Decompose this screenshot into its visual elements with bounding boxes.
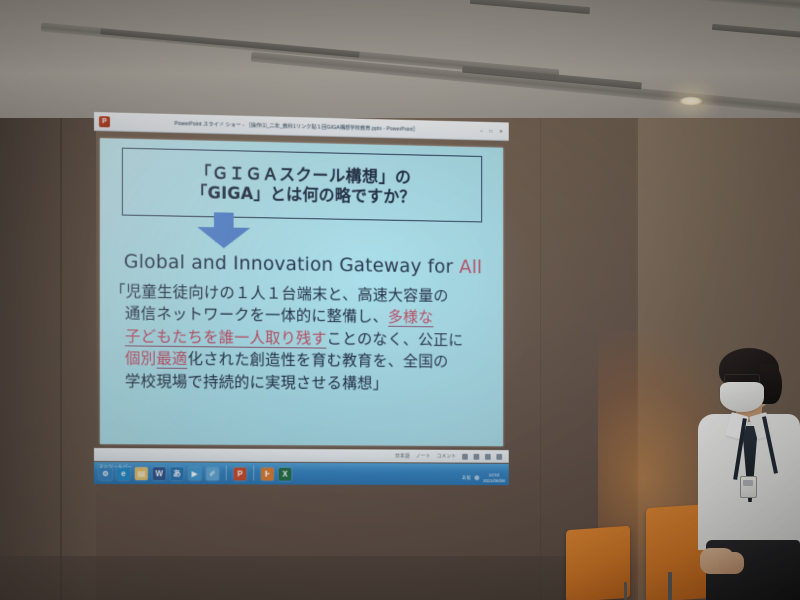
orange-chair	[566, 526, 630, 600]
view-button-icon[interactable]	[496, 453, 502, 459]
floor	[0, 556, 600, 600]
view-button-icon[interactable]	[462, 453, 468, 459]
taskbar-separator	[253, 466, 254, 481]
slide-body-segment: 多様な	[388, 308, 434, 327]
slide-body-segment: 最適	[156, 350, 187, 369]
wall-pillar	[0, 118, 96, 600]
taskbar-label: ミニツールバー	[99, 464, 132, 470]
status-item[interactable]: ノート	[416, 453, 431, 460]
question-line-2: 「GIGA」とは何の略ですか？	[191, 184, 415, 207]
wall-seam	[60, 118, 62, 600]
slide-canvas: 「ＧＩＧＡスクール構想」の 「GIGA」とは何の略ですか？ Global and…	[100, 138, 503, 446]
slide-body-segment: ことのなく	[327, 330, 403, 349]
down-arrow-icon	[197, 212, 250, 249]
english-answer-prefix: Global and Innovation Gateway for	[124, 251, 459, 278]
status-item[interactable]: コメント	[436, 453, 456, 460]
taskbar-separator	[226, 466, 227, 481]
powerpoint-icon[interactable]: P	[234, 468, 247, 481]
projected-screen: P PowerPoint スライド ショー - ［操作⑴_二年_教科1リンク貼１…	[94, 112, 509, 485]
wall-seam	[540, 118, 541, 600]
recessed-downlight-icon	[678, 96, 704, 106]
media-player-icon[interactable]: ▶	[188, 467, 201, 480]
windows-taskbar: ミニツールバー ⊚e▤Wあ▶✐PͰX あ般 14:52 2021/06/08	[94, 462, 509, 485]
photo-scene: P PowerPoint スライド ショー - ［操作⑴_二年_教科1リンク貼１…	[0, 0, 800, 600]
id-badge	[740, 476, 757, 498]
powerpoint-icon: P	[99, 116, 110, 127]
slide-body-segment: 学校現場で持続的に実現させる構想」	[125, 372, 388, 392]
hand	[718, 552, 744, 574]
status-item: 日本語	[395, 452, 410, 459]
slide-body-segment: 、公正に	[403, 331, 464, 349]
window-controls[interactable]: – □ ✕	[480, 128, 503, 134]
chair-leg	[668, 572, 672, 600]
minimize-icon[interactable]: –	[480, 128, 483, 134]
system-tray[interactable]: あ般 14:52 2021/06/08	[462, 473, 505, 483]
window-title: PowerPoint スライド ショー - ［操作⑴_二年_教科1リンク貼１回G…	[110, 118, 480, 134]
face-mask	[720, 382, 764, 412]
view-button-icon[interactable]	[474, 453, 480, 459]
slide-body-segment: 誰一人取り残す	[219, 328, 327, 348]
maximize-icon[interactable]: □	[490, 128, 493, 134]
slide-body-segment: 子どもたちを	[125, 327, 219, 347]
tray-icon[interactable]	[475, 476, 480, 481]
slide-body-segment: 個別	[125, 350, 156, 368]
ime-tool-icon[interactable]: あ	[171, 467, 184, 480]
slide-body-segment: 「児童生徒向けの１人１台端末と、高速大容量の	[110, 282, 449, 305]
english-answer: Global and Innovation Gateway for All	[108, 250, 497, 278]
ime-indicator[interactable]: あ般	[462, 475, 471, 480]
pdf-reader-icon[interactable]: Ͱ	[261, 468, 274, 481]
presenter	[694, 352, 800, 600]
clock[interactable]: 14:52 2021/06/08	[483, 473, 505, 483]
slide-body: 「児童生徒向けの１人１台端末と、高速大容量の通信ネットワークを一体的に整備し、多…	[110, 280, 497, 395]
clock-date: 2021/06/08	[483, 478, 505, 483]
file-explorer-icon[interactable]: ▤	[135, 467, 148, 480]
slide-body-line: 学校現場で持続的に実現させる構想」	[110, 370, 497, 396]
powerpoint-status-bar: 日本語 ノート コメント	[94, 448, 509, 463]
word-icon[interactable]: W	[153, 467, 166, 480]
english-answer-highlight: All	[459, 256, 482, 278]
chair-leg	[624, 582, 627, 600]
slide-body-segment: 通信ネットワークを一体的に整備し、	[125, 305, 388, 326]
slide-body-segment: 化された創造性を育む教育を、全国の	[188, 350, 449, 371]
view-button-icon[interactable]	[485, 453, 491, 459]
close-icon[interactable]: ✕	[499, 129, 503, 135]
notepad-icon[interactable]: ✐	[206, 467, 219, 480]
excel-icon[interactable]: X	[279, 468, 292, 481]
question-box: 「ＧＩＧＡスクール構想」の 「GIGA」とは何の略ですか？	[122, 148, 482, 223]
